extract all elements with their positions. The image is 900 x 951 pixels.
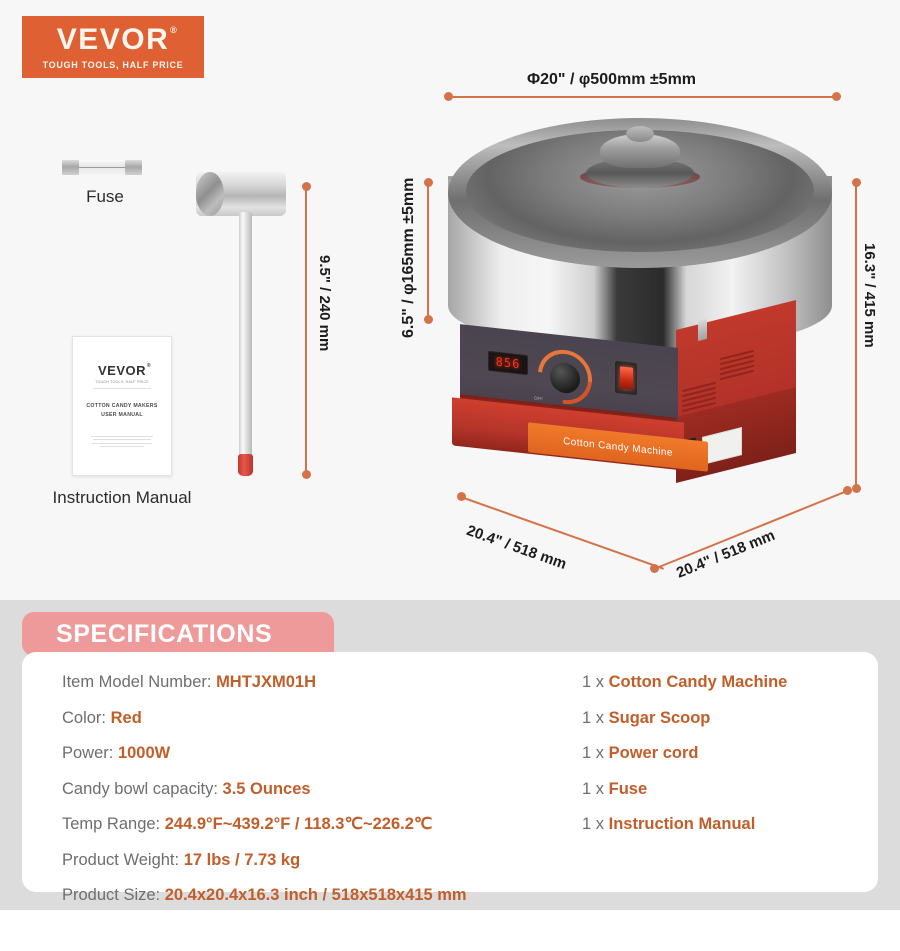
- dimension-bowl-diameter-line: [448, 96, 836, 98]
- dimension-dot-width-right-end: [843, 486, 852, 495]
- cotton-candy-machine-image: 856 OFF Heating Wire Temp Micro Ctrl VEV…: [430, 110, 850, 510]
- package-qty: 1 x: [582, 780, 604, 798]
- fuse-cap-left: [62, 160, 79, 175]
- manual-registered-icon: ®: [147, 363, 151, 369]
- accessory-instruction-manual: VEVOR ® TOUGH TOOLS, HALF PRICE COTTON C…: [52, 336, 192, 508]
- dimension-scoop-length-label: 9.5" / 240 mm: [316, 255, 333, 351]
- spec-value: 20.4x20.4x16.3 inch / 518x518x415 mm: [165, 886, 467, 904]
- spec-label: Color:: [62, 709, 106, 727]
- list-item: 1 x Cotton Candy Machine: [582, 674, 878, 691]
- package-item: Sugar Scoop: [609, 709, 711, 727]
- spec-value: Red: [111, 709, 142, 727]
- manual-title-line2: USER MANUAL: [101, 412, 143, 418]
- dimension-dot-diameter-left: [444, 92, 453, 101]
- package-contents-list: 1 x Cotton Candy Machine 1 x Sugar Scoop…: [582, 652, 878, 892]
- product-hero-area: VEVOR ® TOUGH TOOLS, HALF PRICE Fuse VEV…: [0, 0, 900, 600]
- dimension-dot-height-bottom: [852, 484, 861, 493]
- spinner-cap: [626, 126, 654, 142]
- dimension-bowl-depth-line: [427, 182, 429, 319]
- dimension-dot-height-top: [852, 178, 861, 187]
- scoop-head-end: [196, 172, 224, 216]
- list-item: 1 x Instruction Manual: [582, 816, 878, 833]
- logo-wordmark-text: VEVOR: [57, 23, 170, 56]
- manual-label: Instruction Manual: [52, 488, 192, 508]
- manual-logo-text: VEVOR: [98, 363, 146, 378]
- spec-value: MHTJXM01H: [216, 673, 316, 691]
- fuse-cap-right: [125, 160, 142, 175]
- manual-tagline: TOUGH TOOLS, HALF PRICE: [95, 380, 149, 384]
- list-item: 1 x Fuse: [582, 781, 878, 798]
- dimension-dot-width-bottom-corner: [650, 564, 659, 573]
- scoop-tip: [238, 454, 253, 476]
- manual-cover: VEVOR ® TOUGH TOOLS, HALF PRICE COTTON C…: [72, 336, 172, 476]
- list-item: 1 x Power cord: [582, 745, 878, 762]
- spec-value: 1000W: [118, 744, 170, 762]
- machine-name-plate-text: Cotton Candy Machine: [563, 436, 673, 459]
- list-item: 1 x Sugar Scoop: [582, 710, 878, 727]
- spec-row: Temp Range: 244.9°F~439.2°F / 118.3℃~226…: [62, 816, 582, 833]
- registered-mark-icon: ®: [170, 26, 178, 35]
- specifications-header-tab: SPECIFICATIONS: [22, 612, 334, 656]
- logo-tagline: TOUGH TOOLS, HALF PRICE: [43, 60, 184, 70]
- spec-label: Item Model Number:: [62, 673, 211, 691]
- spec-value: 17 lbs / 7.73 kg: [184, 851, 300, 869]
- package-qty: 1 x: [582, 673, 604, 691]
- package-qty: 1 x: [582, 815, 604, 833]
- manual-logo: VEVOR ®: [98, 363, 146, 378]
- dimension-dot-diameter-right: [832, 92, 841, 101]
- package-item: Fuse: [609, 780, 648, 798]
- accessory-sugar-scoop: [196, 172, 296, 472]
- temperature-display: 856: [488, 351, 528, 375]
- manual-divider: [93, 388, 151, 389]
- spec-label: Power:: [62, 744, 113, 762]
- package-item: Instruction Manual: [609, 815, 756, 833]
- dimension-dot-width-left-start: [457, 492, 466, 501]
- dimension-total-height-label: 16.3" / 415 mm: [861, 243, 878, 348]
- power-rocker-switch[interactable]: [615, 361, 637, 395]
- knob-off-label: OFF: [534, 396, 543, 402]
- spec-row: Power: 1000W: [62, 745, 582, 762]
- spec-label: Product Size:: [62, 886, 160, 904]
- spec-row: Color: Red: [62, 710, 582, 727]
- dimension-scoop-length-line: [305, 186, 307, 474]
- spec-row: Product Weight: 17 lbs / 7.73 kg: [62, 852, 582, 869]
- scoop-shaft: [239, 212, 252, 468]
- dimension-dot-scoop-top: [302, 182, 311, 191]
- package-item: Cotton Candy Machine: [609, 673, 788, 691]
- spec-row: Product Size: 20.4x20.4x16.3 inch / 518x…: [62, 887, 582, 904]
- specifications-heading: SPECIFICATIONS: [56, 620, 272, 649]
- specifications-list: Item Model Number: MHTJXM01H Color: Red …: [22, 652, 582, 892]
- manual-title: COTTON CANDY MAKERS USER MANUAL: [86, 402, 157, 420]
- accessory-fuse: Fuse: [62, 160, 148, 207]
- spec-row: Candy bowl capacity: 3.5 Ounces: [62, 781, 582, 798]
- fuse-label: Fuse: [62, 187, 148, 207]
- spec-value: 3.5 Ounces: [223, 780, 311, 798]
- dimension-bowl-depth-label: 6.5" / φ165mm ±5mm: [400, 178, 418, 338]
- spec-label: Product Weight:: [62, 851, 179, 869]
- vevor-logo: VEVOR ® TOUGH TOOLS, HALF PRICE: [22, 16, 204, 78]
- dimension-dot-scoop-bottom: [302, 470, 311, 479]
- dimension-dot-depth-bottom: [424, 315, 433, 324]
- fuse-icon: [62, 160, 142, 175]
- latch-icon: [698, 319, 707, 341]
- package-qty: 1 x: [582, 744, 604, 762]
- dimension-dot-depth-top: [424, 178, 433, 187]
- dimension-total-height-line: [855, 182, 857, 488]
- logo-wordmark: VEVOR ®: [57, 25, 170, 55]
- manual-body-lines: [91, 436, 153, 450]
- spec-label: Temp Range:: [62, 815, 160, 833]
- spec-value: 244.9°F~439.2°F / 118.3℃~226.2℃: [165, 815, 433, 833]
- dimension-bowl-diameter-label: Φ20" / φ500mm ±5mm: [527, 71, 696, 89]
- specifications-card: Item Model Number: MHTJXM01H Color: Red …: [22, 652, 878, 892]
- package-qty: 1 x: [582, 709, 604, 727]
- power-indicator-light: [620, 366, 633, 389]
- package-item: Power cord: [609, 744, 699, 762]
- manual-title-line1: COTTON CANDY MAKERS: [86, 403, 157, 409]
- temperature-display-value: 856: [496, 355, 521, 372]
- spec-row: Item Model Number: MHTJXM01H: [62, 674, 582, 691]
- spec-label: Candy bowl capacity:: [62, 780, 218, 798]
- fuse-wire: [79, 167, 125, 168]
